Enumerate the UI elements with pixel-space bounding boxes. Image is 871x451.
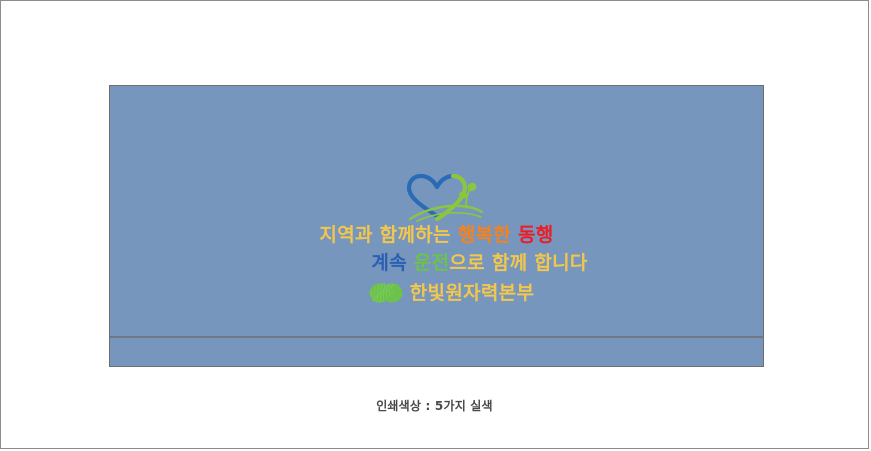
slogan-line2-part1: 계속 <box>371 252 407 274</box>
slogan-line1-part1: 지역과 함께하는 <box>319 224 450 246</box>
slogan-line2-part3: 으로 함께 합니다 <box>449 252 587 274</box>
caption-text: 인쇄색상 : 5가지 실색 <box>1 397 868 414</box>
heart-swoosh-icon <box>404 172 486 222</box>
org-name: 한빛원자력본부 <box>410 282 534 304</box>
slogan-line-3: 한빛원자력본부 <box>110 281 763 305</box>
slogan-line2-part2: 운전 <box>414 252 450 274</box>
slogan-line1-part2: 행복한 <box>458 224 511 246</box>
artwork-panel: 지역과 함께하는 행복한 동행 계속 운전으로 함께 합니다 <box>109 85 764 367</box>
logo-lockup: 지역과 함께하는 행복한 동행 계속 운전으로 함께 합니다 <box>110 86 763 336</box>
slide-page: 지역과 함께하는 행복한 동행 계속 운전으로 함께 합니다 <box>0 0 869 449</box>
slogan-line1-part3: 동행 <box>518 224 554 246</box>
panel-divider <box>110 336 763 338</box>
khnp-loop-icon <box>369 283 403 303</box>
slogan-line-2: 계속 운전으로 함께 합니다 <box>110 252 763 274</box>
slogan-line-1: 지역과 함께하는 행복한 동행 <box>110 224 763 246</box>
